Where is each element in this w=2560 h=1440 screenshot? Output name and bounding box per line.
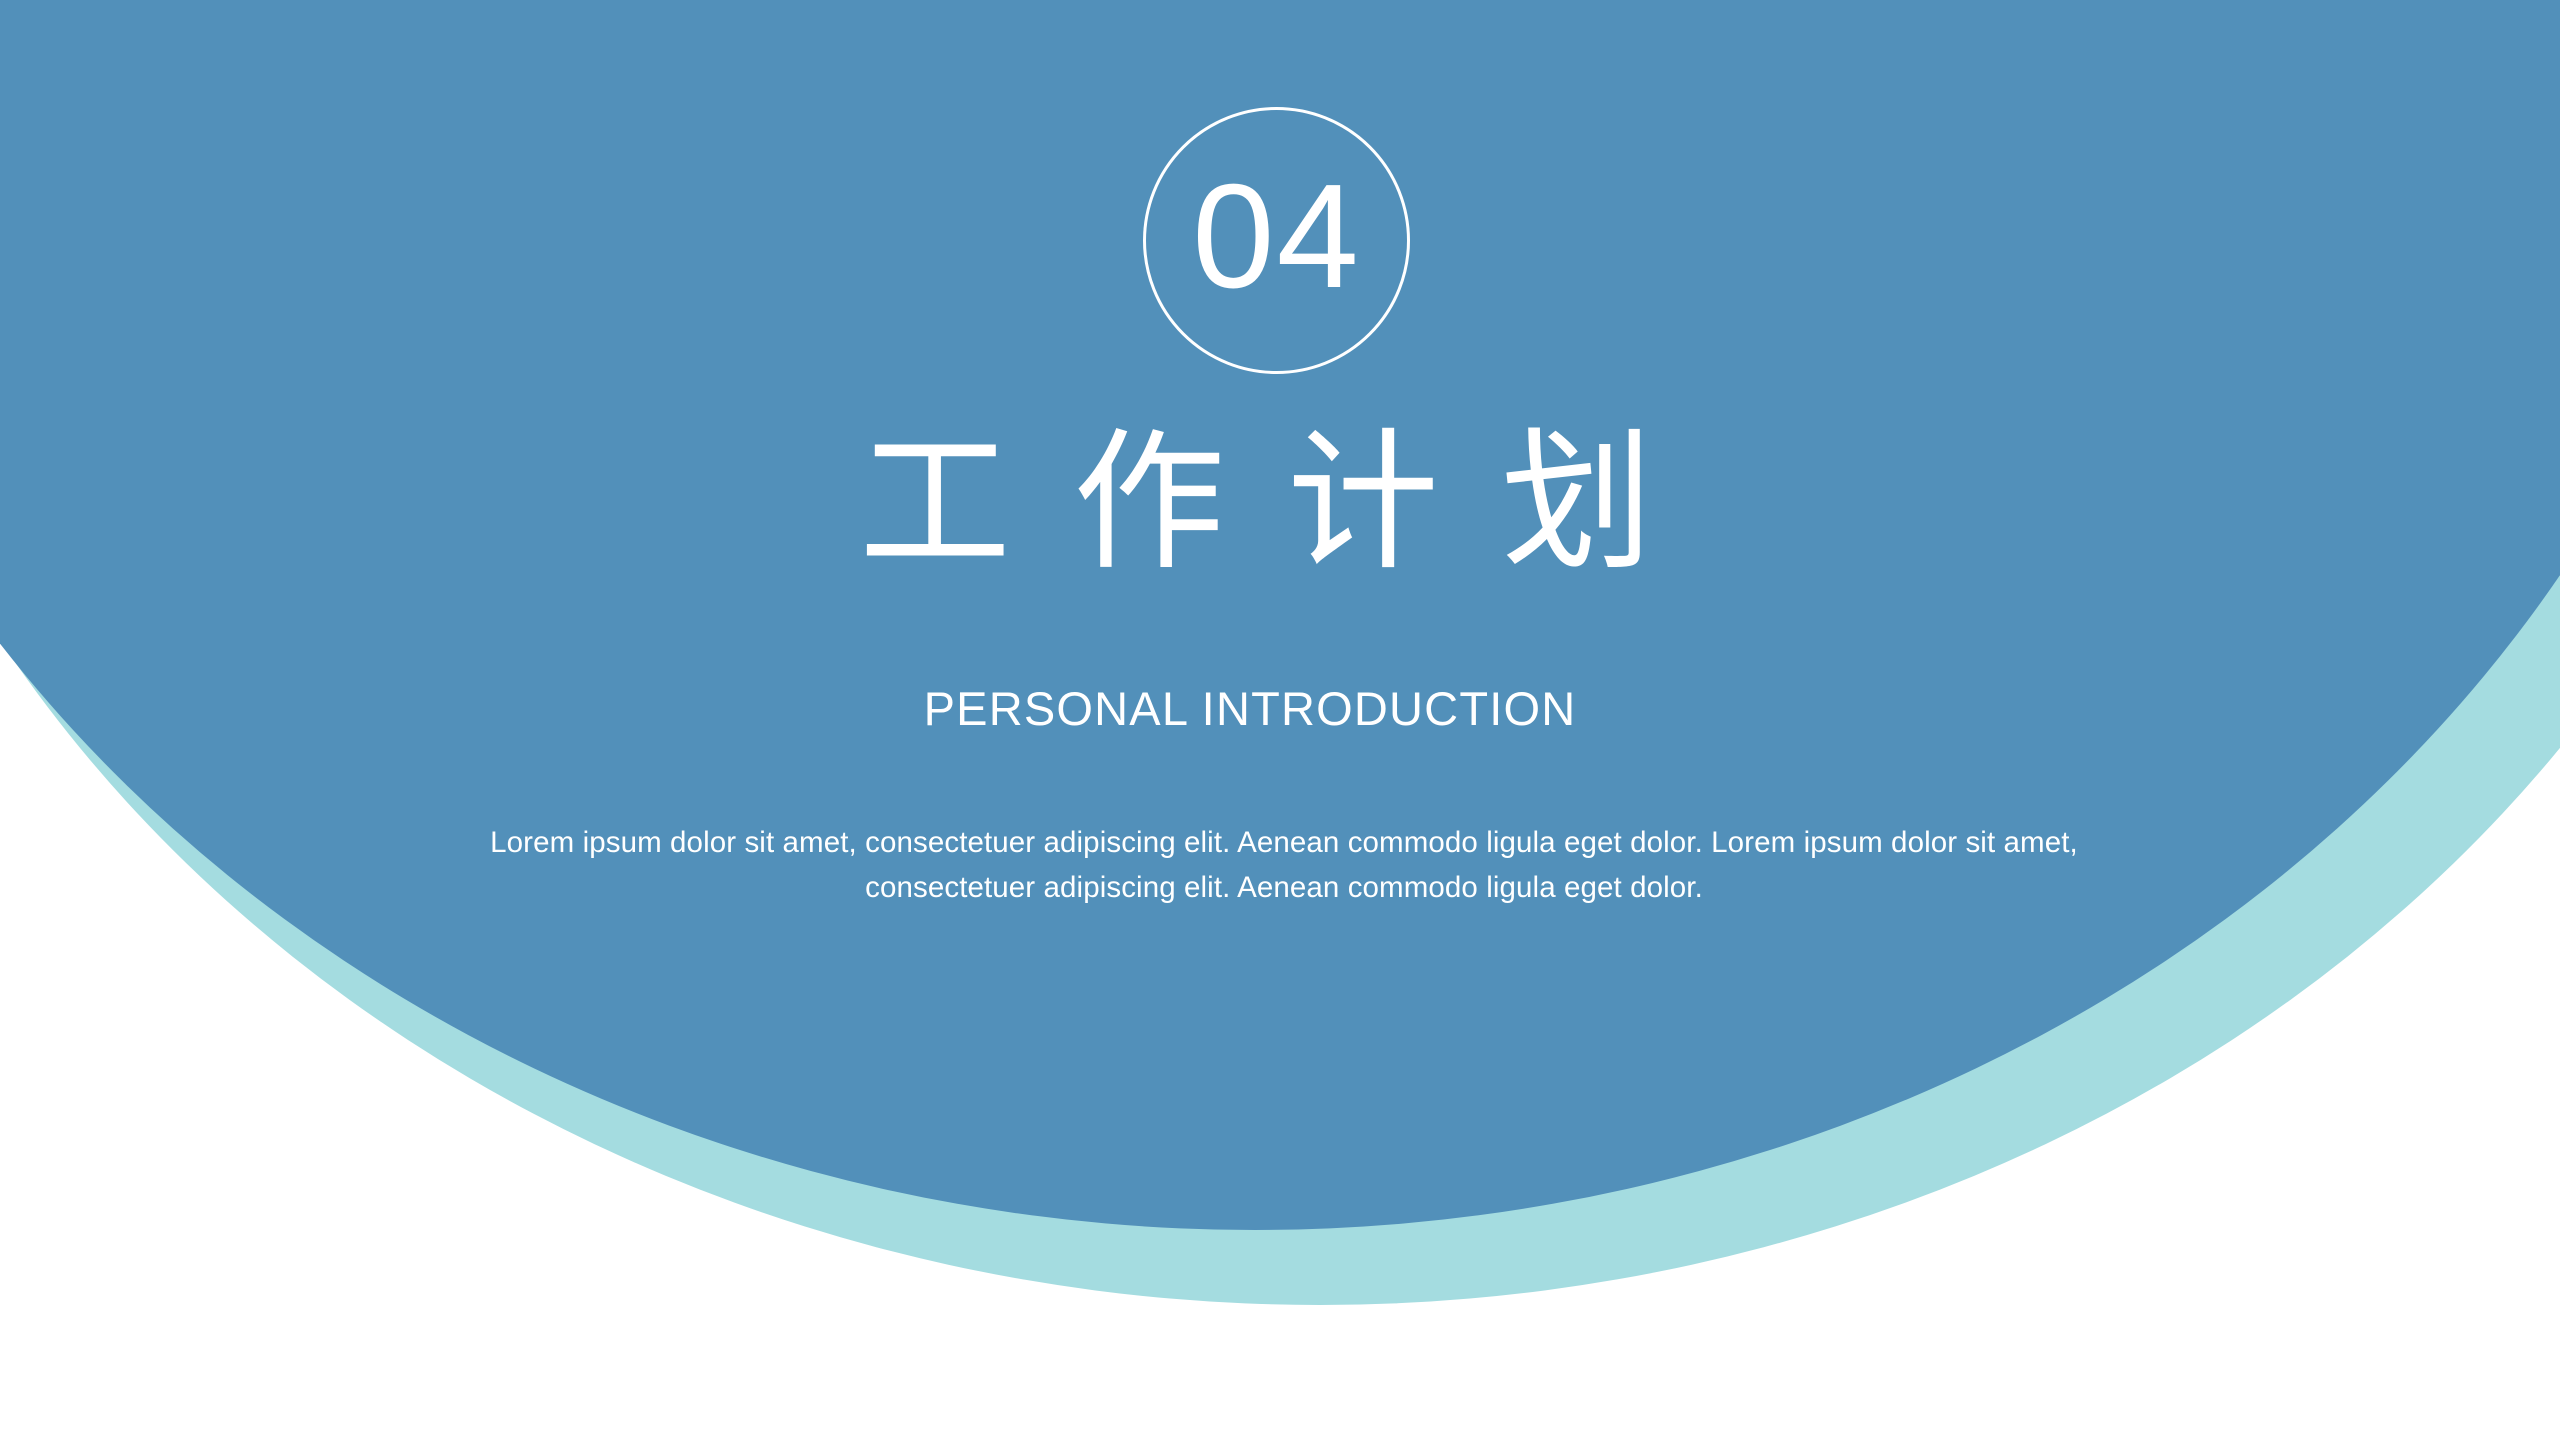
- body-paragraph: Lorem ipsum dolor sit amet, consectetuer…: [484, 820, 2084, 910]
- slide-canvas: 04 工作计划 PERSONAL INTRODUCTION Lorem ipsu…: [0, 0, 2560, 1440]
- slide-content: 04 工作计划 PERSONAL INTRODUCTION Lorem ipsu…: [0, 0, 2560, 1440]
- number-circle-outline: 04: [1143, 107, 1410, 374]
- section-number: 04: [1192, 163, 1361, 311]
- page-title-cn: 工作计划: [0, 425, 2512, 585]
- page-subtitle-en: PERSONAL INTRODUCTION: [0, 683, 2500, 735]
